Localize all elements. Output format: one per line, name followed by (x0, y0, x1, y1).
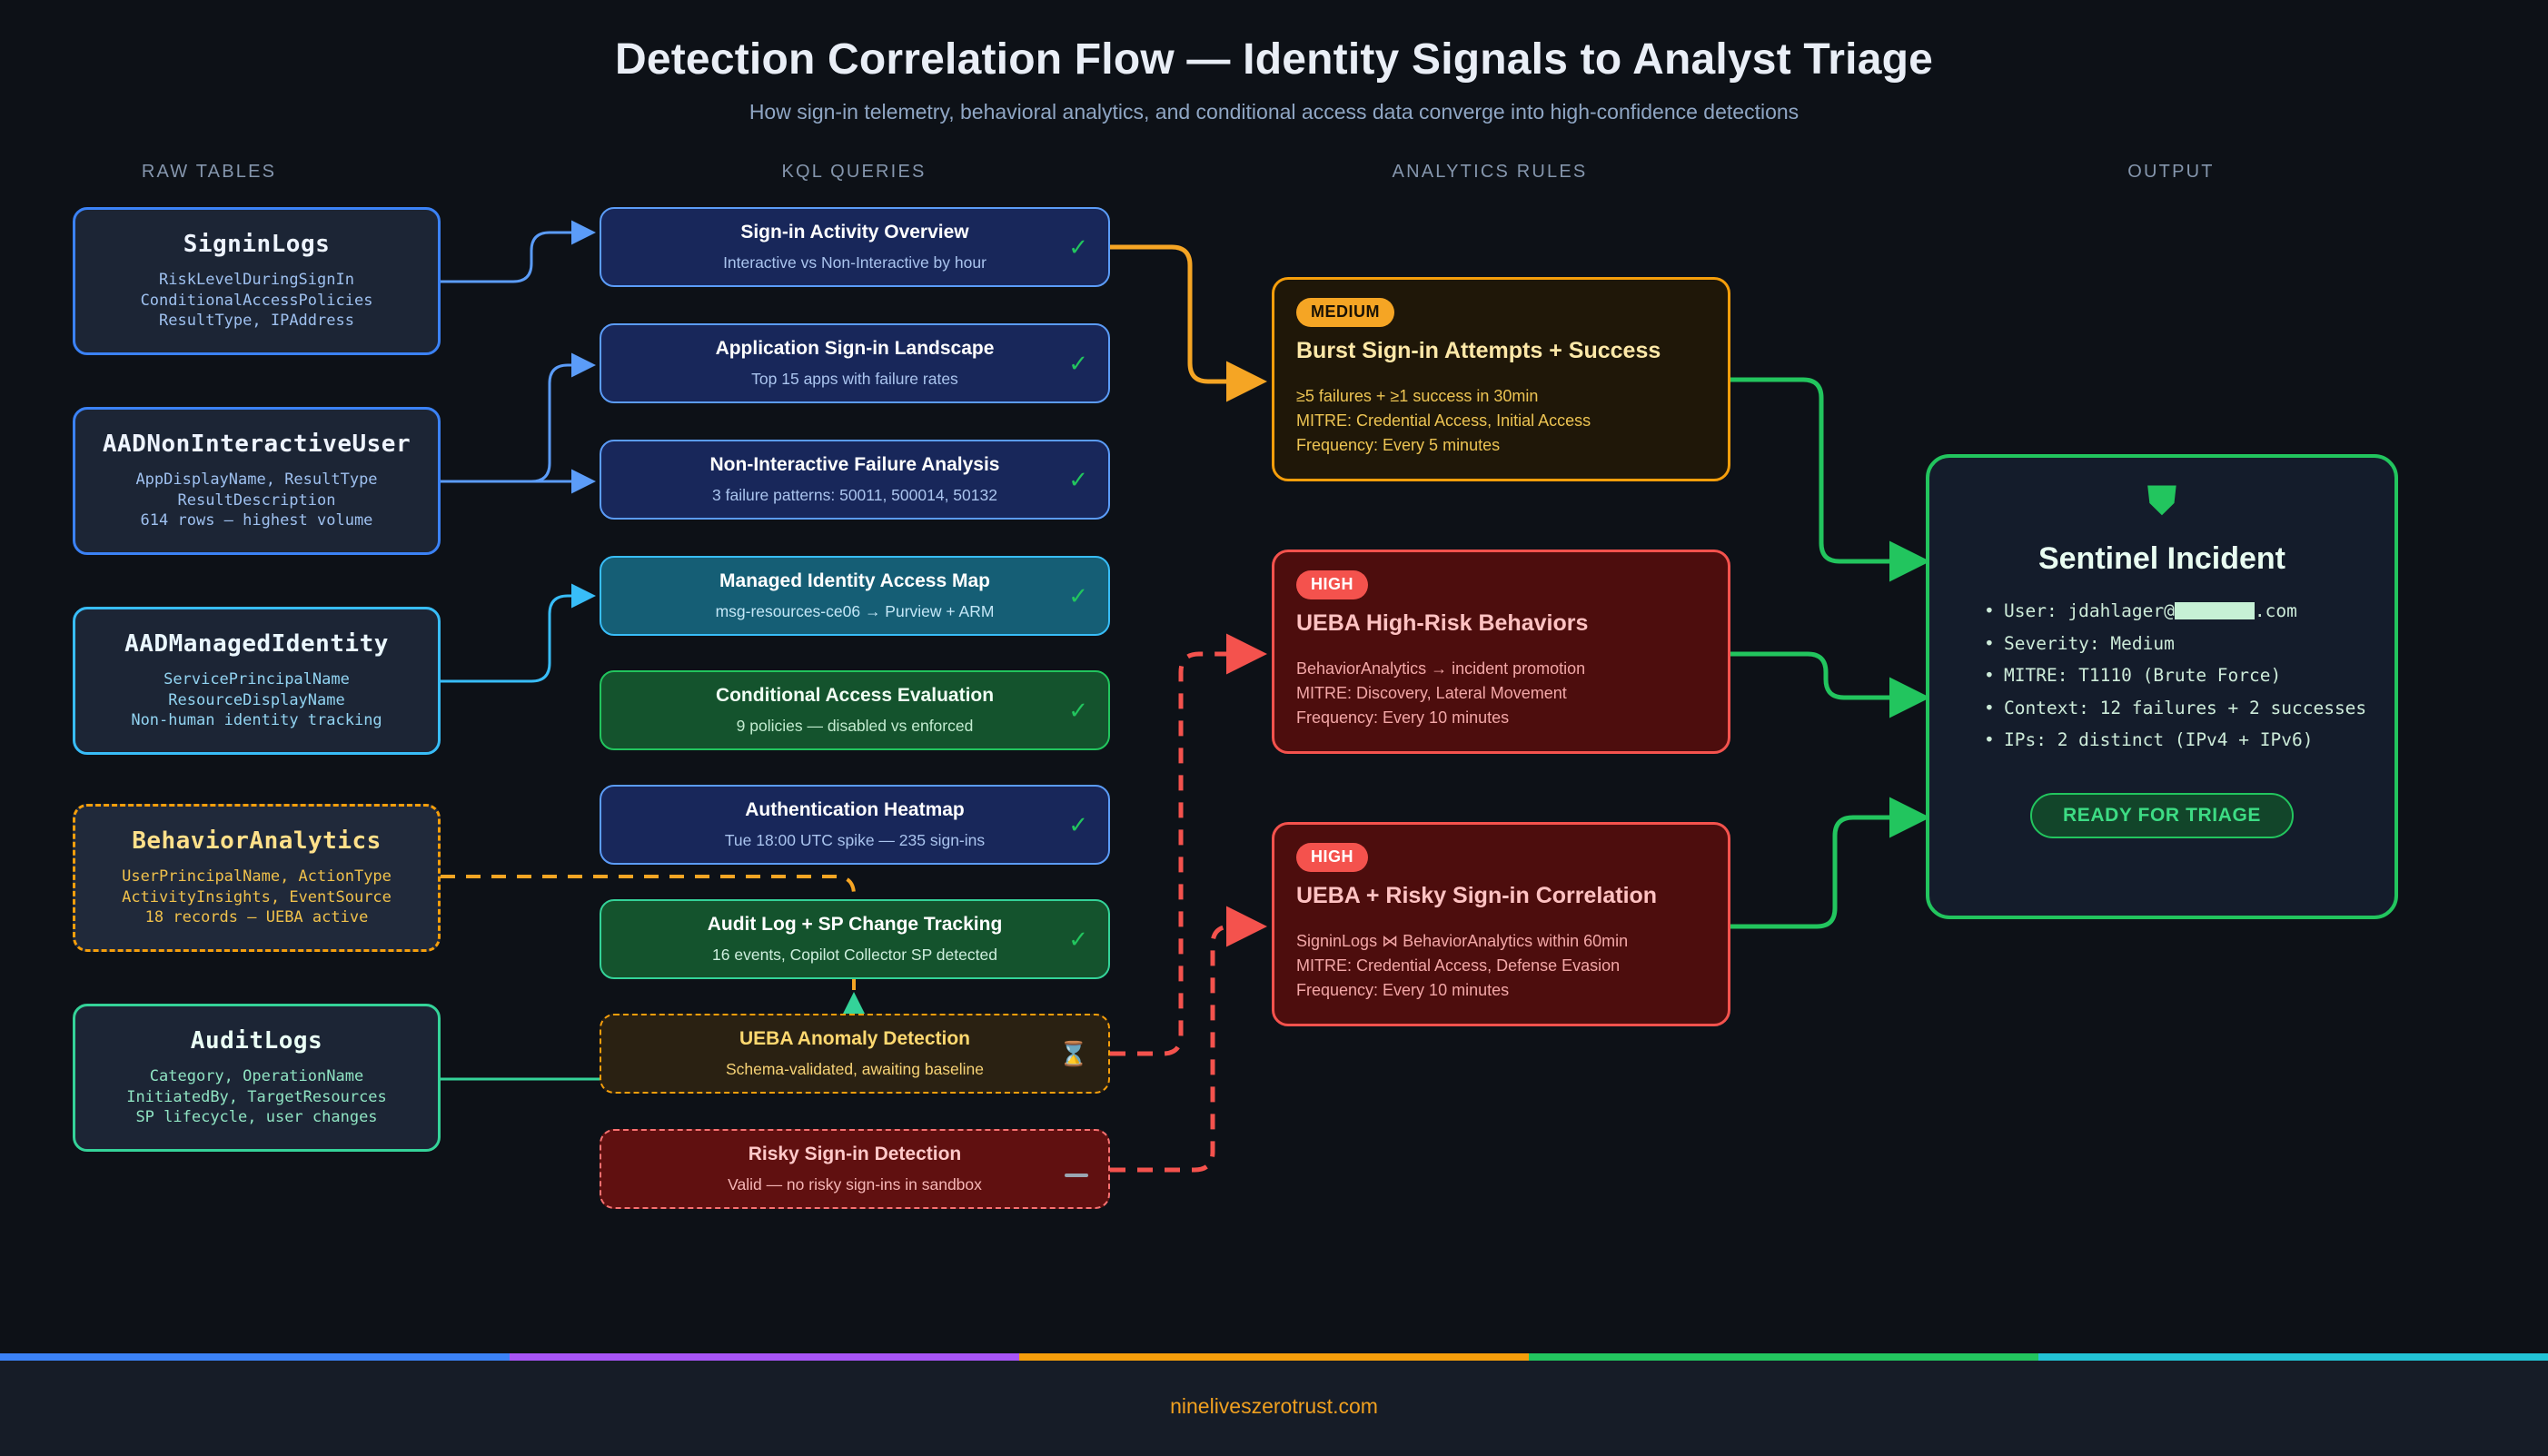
hourglass-icon: ⌛ (1059, 1042, 1088, 1065)
raw-table-auditlogs[interactable]: AuditLogs Category, OperationName Initia… (73, 1004, 441, 1152)
raw-table-fields: Category, OperationName InitiatedBy, Tar… (126, 1066, 387, 1128)
page-title: Detection Correlation Flow — Identity Si… (0, 35, 2548, 84)
kql-query-title: Managed Identity Access Map (719, 570, 990, 592)
analytics-rule-burst-signin-attempts[interactable]: MEDIUM Burst Sign-in Attempts + Success … (1272, 277, 1730, 481)
kql-query-subtitle: Tue 18:00 UTC spike — 235 sign-ins (725, 831, 985, 850)
raw-table-fields: UserPrincipalName, ActionType ActivityIn… (122, 867, 392, 928)
footer-accent-bar (0, 1353, 2548, 1361)
analytics-rule-detail-mitre: MITRE: Credential Access, Initial Access (1296, 409, 1591, 433)
severity-badge: HIGH (1296, 570, 1368, 599)
raw-table-behavioranalytics[interactable]: BehaviorAnalytics UserPrincipalName, Act… (73, 804, 441, 952)
raw-table-name: SigninLogs (183, 231, 331, 258)
footer-bar-segment-2 (510, 1353, 1019, 1361)
ready-for-triage-button[interactable]: READY FOR TRIAGE (2030, 793, 2294, 838)
raw-table-name: AADManagedIdentity (124, 630, 389, 658)
kql-query-authentication-heatmap[interactable]: Authentication Heatmap Tue 18:00 UTC spi… (600, 785, 1110, 865)
kql-query-title: Audit Log + SP Change Tracking (708, 914, 1003, 936)
analytics-rule-detail-logic: BehaviorAnalytics → incident promotion (1296, 657, 1585, 681)
raw-table-aadnoninteractiveuser[interactable]: AADNonInteractiveUser AppDisplayName, Re… (73, 407, 441, 555)
output-item-user: User: jdahlager@.com (1984, 600, 2366, 621)
output-sentinel-incident[interactable]: ⛊ Sentinel Incident User: jdahlager@.com… (1926, 454, 2398, 919)
footer-site-link[interactable]: nineliveszerotrust.com (0, 1394, 2548, 1419)
footer-bar-segment-5 (2038, 1353, 2548, 1361)
kql-query-managed-identity-access-map[interactable]: Managed Identity Access Map msg-resource… (600, 556, 1110, 636)
kql-query-subtitle: Top 15 apps with failure rates (751, 370, 958, 389)
kql-query-subtitle: Schema-validated, awaiting baseline (726, 1060, 984, 1079)
output-detail-list: User: jdahlager@.com Severity: Medium MI… (1977, 600, 2366, 762)
raw-table-aadmanagedidentity[interactable]: AADManagedIdentity ServicePrincipalName … (73, 607, 441, 755)
analytics-rule-title: Burst Sign-in Attempts + Success (1296, 338, 1661, 364)
output-item-severity: Severity: Medium (1984, 633, 2366, 654)
check-icon: ✓ (1068, 352, 1088, 375)
output-item-context: Context: 12 failures + 2 successes (1984, 698, 2366, 718)
kql-query-audit-log-sp-change-tracking[interactable]: Audit Log + SP Change Tracking 16 events… (600, 899, 1110, 979)
footer-bar-segment-3 (1019, 1353, 1529, 1361)
raw-table-name: AuditLogs (191, 1027, 322, 1055)
check-icon: ✓ (1068, 468, 1088, 491)
raw-table-fields: ServicePrincipalName ResourceDisplayName… (131, 669, 382, 731)
kql-query-title: UEBA Anomaly Detection (739, 1028, 970, 1050)
kql-query-signin-activity-overview[interactable]: Sign-in Activity Overview Interactive vs… (600, 207, 1110, 287)
kql-query-subtitle: 16 events, Copilot Collector SP detected (712, 946, 997, 965)
check-icon: ✓ (1068, 927, 1088, 951)
kql-query-application-signin-landscape[interactable]: Application Sign-in Landscape Top 15 app… (600, 323, 1110, 403)
check-icon: ✓ (1068, 698, 1088, 722)
kql-query-title: Application Sign-in Landscape (716, 338, 995, 360)
analytics-rule-detail-frequency: Frequency: Every 10 minutes (1296, 706, 1585, 730)
analytics-rule-title: UEBA High-Risk Behaviors (1296, 610, 1588, 637)
analytics-rule-detail-logic: SigninLogs ⋈ BehaviorAnalytics within 60… (1296, 929, 1628, 954)
analytics-rule-ueba-high-risk-behaviors[interactable]: HIGH UEBA High-Risk Behaviors BehaviorAn… (1272, 550, 1730, 754)
column-header-output: OUTPUT (1880, 162, 2462, 183)
column-header-analytics-rules: ANALYTICS RULES (1244, 162, 1735, 183)
output-item-ips: IPs: 2 distinct (IPv4 + IPv6) (1984, 729, 2366, 750)
footer-bar-segment-1 (0, 1353, 510, 1361)
footer-bar-segment-4 (1529, 1353, 2038, 1361)
kql-query-title: Non-Interactive Failure Analysis (710, 454, 1000, 476)
kql-query-title: Authentication Heatmap (745, 799, 965, 821)
severity-badge: HIGH (1296, 843, 1368, 872)
kql-query-non-interactive-failure-analysis[interactable]: Non-Interactive Failure Analysis 3 failu… (600, 440, 1110, 520)
diagram-canvas: Detection Correlation Flow — Identity Si… (0, 0, 2548, 1456)
kql-query-conditional-access-evaluation[interactable]: Conditional Access Evaluation 9 policies… (600, 670, 1110, 750)
check-icon: ✓ (1068, 813, 1088, 837)
page-subtitle: How sign-in telemetry, behavioral analyt… (0, 100, 2548, 124)
dash-icon (1065, 1157, 1088, 1181)
check-icon: ✓ (1068, 584, 1088, 608)
column-header-kql-queries: KQL QUERIES (609, 162, 1099, 183)
raw-table-name: AADNonInteractiveUser (103, 431, 411, 458)
analytics-rule-ueba-risky-signin-correlation[interactable]: HIGH UEBA + Risky Sign-in Correlation Si… (1272, 822, 1730, 1026)
raw-table-signinlogs[interactable]: SigninLogs RiskLevelDuringSignIn Conditi… (73, 207, 441, 355)
shield-icon: ⛊ (2147, 481, 2177, 521)
analytics-rule-title: UEBA + Risky Sign-in Correlation (1296, 883, 1657, 909)
kql-query-subtitle: msg-resources-ce06 → Purview + ARM (716, 602, 995, 621)
kql-query-title: Sign-in Activity Overview (740, 222, 968, 243)
analytics-rule-detail-mitre: MITRE: Discovery, Lateral Movement (1296, 681, 1585, 706)
analytics-rule-detail-mitre: MITRE: Credential Access, Defense Evasio… (1296, 954, 1628, 978)
kql-query-subtitle: 3 failure patterns: 50011, 500014, 50132 (712, 486, 997, 505)
output-title: Sentinel Incident (2038, 541, 2285, 577)
kql-query-subtitle: Interactive vs Non-Interactive by hour (723, 253, 986, 272)
check-icon: ✓ (1068, 235, 1088, 259)
raw-table-fields: RiskLevelDuringSignIn ConditionalAccessP… (141, 270, 373, 332)
raw-table-fields: AppDisplayName, ResultType ResultDescrip… (135, 470, 377, 531)
analytics-rule-detail-logic: ≥5 failures + ≥1 success in 30min (1296, 384, 1591, 409)
redaction-block (2175, 602, 2255, 619)
output-item-mitre: MITRE: T1110 (Brute Force) (1984, 665, 2366, 686)
analytics-rule-detail-frequency: Frequency: Every 10 minutes (1296, 978, 1628, 1003)
kql-query-title: Conditional Access Evaluation (716, 685, 994, 707)
analytics-rule-detail-frequency: Frequency: Every 5 minutes (1296, 433, 1591, 458)
kql-query-title: Risky Sign-in Detection (749, 1144, 962, 1165)
column-header-raw-tables: RAW TABLES (55, 162, 363, 183)
kql-query-ueba-anomaly-detection[interactable]: UEBA Anomaly Detection Schema-validated,… (600, 1014, 1110, 1094)
kql-query-risky-signin-detection[interactable]: Risky Sign-in Detection Valid — no risky… (600, 1129, 1110, 1209)
raw-table-name: BehaviorAnalytics (132, 827, 382, 855)
kql-query-subtitle: 9 policies — disabled vs enforced (737, 717, 974, 736)
kql-query-subtitle: Valid — no risky sign-ins in sandbox (728, 1175, 982, 1194)
severity-badge: MEDIUM (1296, 298, 1394, 327)
